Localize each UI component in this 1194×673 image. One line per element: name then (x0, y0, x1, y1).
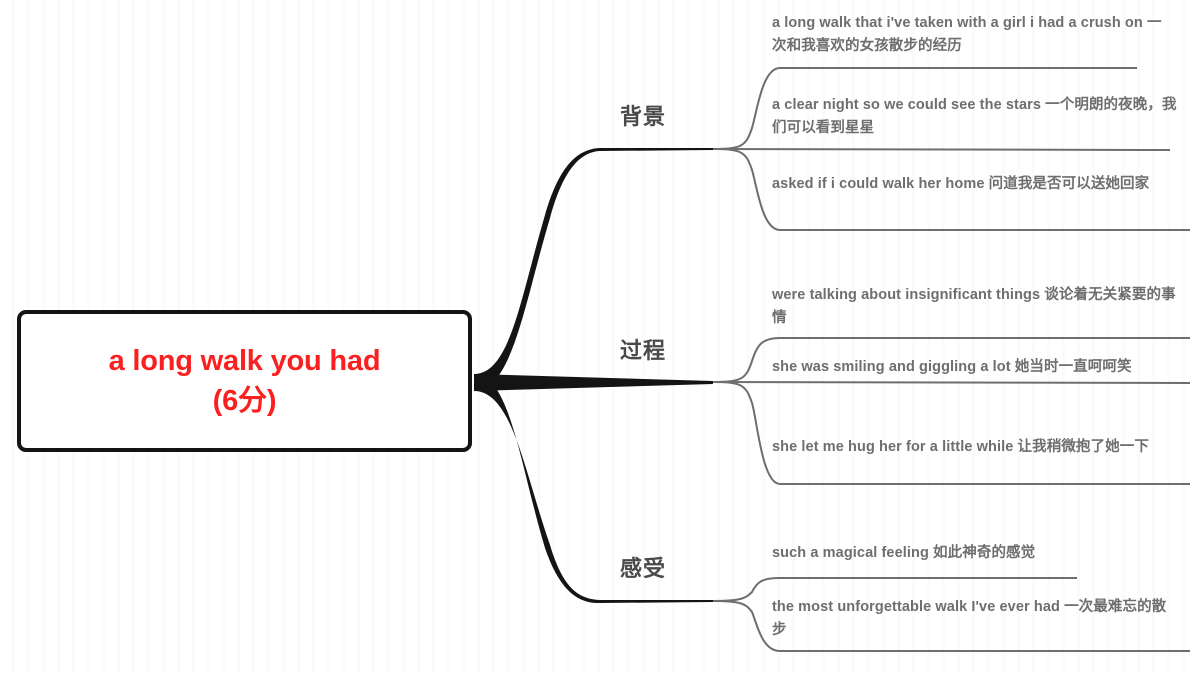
branch-label-background[interactable]: 背景 (620, 99, 666, 131)
branch-label-feeling[interactable]: 感受 (620, 551, 666, 583)
leaf-item-3-2[interactable]: the most unforgettable walk I've ever ha… (772, 596, 1176, 643)
mindmap-canvas: a long walk you had (6分) 背景 过程 感受 a long… (0, 0, 1194, 673)
leaf-item-2-2[interactable]: she was smiling and giggling a lot 她当时一直… (772, 356, 1176, 379)
leaf-item-1-3[interactable]: asked if i could walk her home 问道我是否可以送她… (772, 173, 1172, 196)
branch-label-process[interactable]: 过程 (620, 333, 666, 365)
leaf-item-2-3[interactable]: she let me hug her for a little while 让我… (772, 436, 1176, 459)
root-node-label: a long walk you had (6分) (95, 341, 395, 421)
leaf-item-2-1[interactable]: were talking about insignificant things … (772, 284, 1176, 331)
leaf-item-3-1[interactable]: such a magical feeling 如此神奇的感觉 (772, 542, 1176, 565)
leaf-line-2-3 (713, 382, 1190, 484)
trunk-to-branch-3 (474, 374, 713, 603)
leaf-item-1-2[interactable]: a clear night so we could see the stars … (772, 94, 1178, 141)
leaf-item-1-1[interactable]: a long walk that i've taken with a girl … (772, 12, 1164, 59)
trunk-to-branch-1 (474, 148, 713, 391)
trunk-to-branch-2 (474, 374, 713, 391)
root-node[interactable]: a long walk you had (6分) (17, 310, 472, 452)
leaf-line-1-2 (713, 149, 1170, 150)
leaf-line-2-2 (713, 382, 1190, 383)
